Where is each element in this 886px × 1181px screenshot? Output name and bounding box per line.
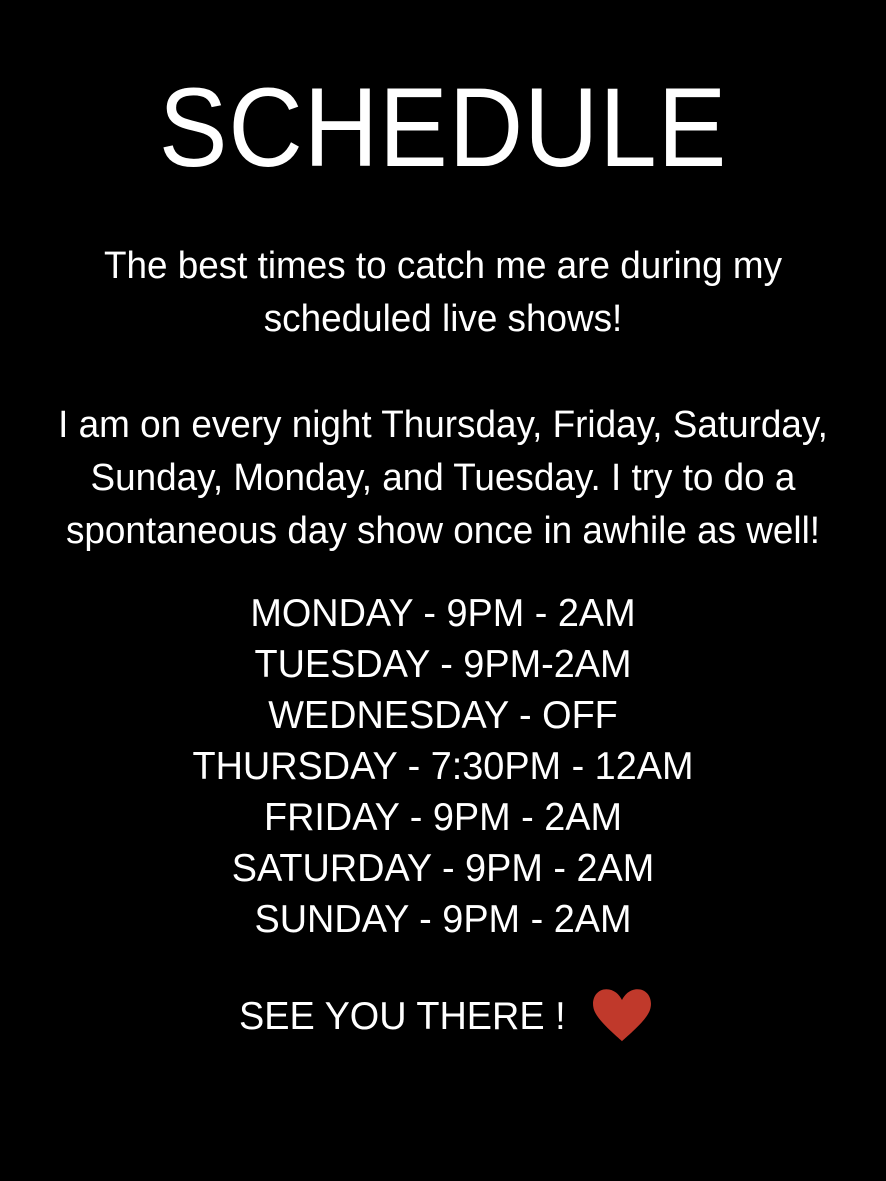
intro-paragraph-2: I am on every night Thursday, Friday, Sa… [13, 399, 872, 558]
closing-text: SEE YOU THERE ! [239, 991, 566, 1042]
schedule-row-monday: MONDAY - 9PM - 2AM [13, 588, 872, 639]
paragraph-spacer [0, 346, 886, 399]
schedule-row-friday: FRIDAY - 9PM - 2AM [13, 792, 872, 843]
schedule-row-saturday: SATURDAY - 9PM - 2AM [13, 843, 872, 894]
schedule-list: MONDAY - 9PM - 2AM TUESDAY - 9PM-2AM WED… [0, 588, 886, 945]
schedule-poster: SCHEDULE The best times to catch me are … [0, 0, 886, 1181]
intro-text-block: The best times to catch me are during my… [0, 240, 886, 558]
heart-shape [593, 989, 651, 1041]
heart-icon [592, 988, 652, 1042]
page-title: SCHEDULE [35, 72, 850, 184]
schedule-row-tuesday: TUESDAY - 9PM-2AM [13, 639, 872, 690]
schedule-row-sunday: SUNDAY - 9PM - 2AM [13, 894, 872, 945]
intro-paragraph-1: The best times to catch me are during my… [13, 240, 872, 346]
closing-line: SEE YOU THERE ! [0, 990, 886, 1042]
schedule-row-wednesday: WEDNESDAY - OFF [13, 690, 872, 741]
schedule-row-thursday: THURSDAY - 7:30PM - 12AM [13, 741, 872, 792]
